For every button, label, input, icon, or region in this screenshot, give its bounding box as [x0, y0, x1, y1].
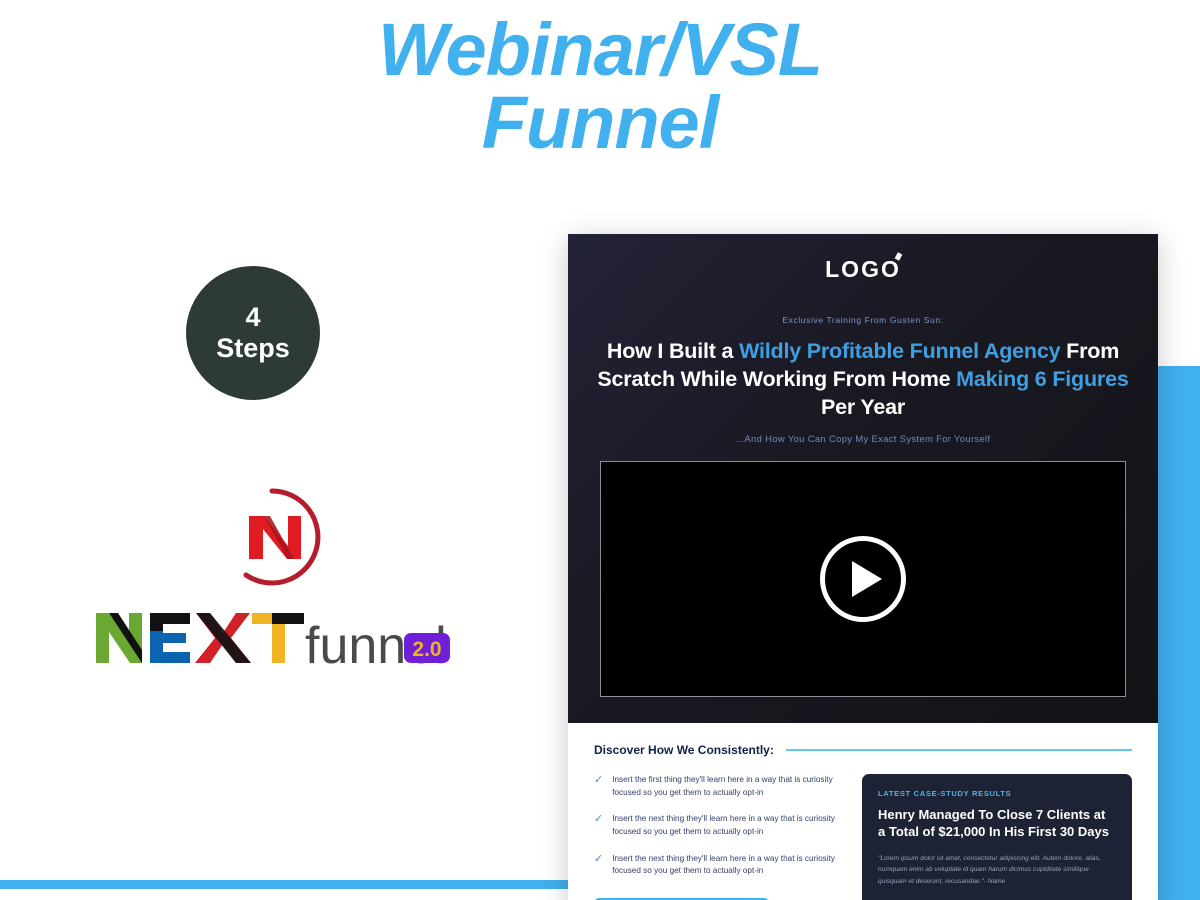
case-study-quote: "Lorem ipsum dolor sit amet, consectetur… [878, 853, 1116, 888]
list-item-label: Insert the first thing they'll learn her… [612, 774, 842, 799]
mockup-logo: LOGO [594, 256, 1132, 283]
case-study-card: LATEST CASE-STUDY RESULTS Henry Managed … [862, 774, 1132, 900]
mockup-logo-text: LOGO [825, 256, 901, 282]
body-heading-row: Discover How We Consistently: [594, 743, 1132, 757]
benefit-list: ✓ Insert the first thing they'll learn h… [594, 774, 842, 900]
check-icon: ✓ [594, 853, 603, 878]
list-item: ✓ Insert the next thing they'll learn he… [594, 813, 842, 838]
case-study-title: Henry Managed To Close 7 Clients at a To… [878, 806, 1116, 841]
check-icon: ✓ [594, 774, 603, 799]
headline-part-5: Per Year [821, 395, 905, 419]
section-divider [786, 749, 1132, 751]
svg-text:2.0: 2.0 [412, 638, 441, 661]
mockup-eyebrow: Exclusive Training From Gusten Sun: [594, 315, 1132, 325]
play-triangle [852, 561, 882, 597]
steps-count: 4 [245, 302, 260, 333]
list-item: ✓ Insert the first thing they'll learn h… [594, 774, 842, 799]
mockup-body-section: Discover How We Consistently: ✓ Insert t… [568, 723, 1158, 900]
page-title-line-1: Webinar/VSL [378, 8, 822, 91]
funnel-page-mockup: LOGO Exclusive Training From Gusten Sun:… [568, 234, 1158, 900]
page-title-line-2: Funnel [0, 87, 1200, 160]
mockup-hero-section: LOGO Exclusive Training From Gusten Sun:… [568, 234, 1158, 723]
video-player[interactable] [600, 461, 1126, 697]
case-study-kicker: LATEST CASE-STUDY RESULTS [878, 789, 1116, 798]
list-item-label: Insert the next thing they'll learn here… [612, 853, 842, 878]
play-icon[interactable] [820, 536, 906, 622]
steps-badge: 4 Steps [186, 266, 320, 400]
nextfunnel-wordmark: funnel 2.0 [88, 605, 456, 671]
steps-label: Steps [216, 333, 290, 364]
body-columns: ✓ Insert the first thing they'll learn h… [594, 774, 1132, 900]
list-item-label: Insert the next thing they'll learn here… [612, 813, 842, 838]
page-title: Webinar/VSL Funnel [0, 14, 1200, 159]
mockup-headline: How I Built a Wildly Profitable Funnel A… [594, 338, 1132, 422]
slide-canvas: Webinar/VSL Funnel 4 Steps [0, 0, 1200, 900]
headline-part-2-highlight: Wildly Profitable Funnel Agency [739, 339, 1060, 363]
check-icon: ✓ [594, 813, 603, 838]
section-title: Discover How We Consistently: [594, 743, 774, 757]
nextfunnel-logo: funnel 2.0 [88, 483, 456, 671]
headline-part-1: How I Built a [607, 339, 739, 363]
headline-part-4-highlight: Making 6 Figures [956, 367, 1128, 391]
mockup-subheadline: ...And How You Can Copy My Exact System … [594, 434, 1132, 445]
nextfunnel-n-mark-icon [88, 483, 456, 591]
list-item: ✓ Insert the next thing they'll learn he… [594, 853, 842, 878]
